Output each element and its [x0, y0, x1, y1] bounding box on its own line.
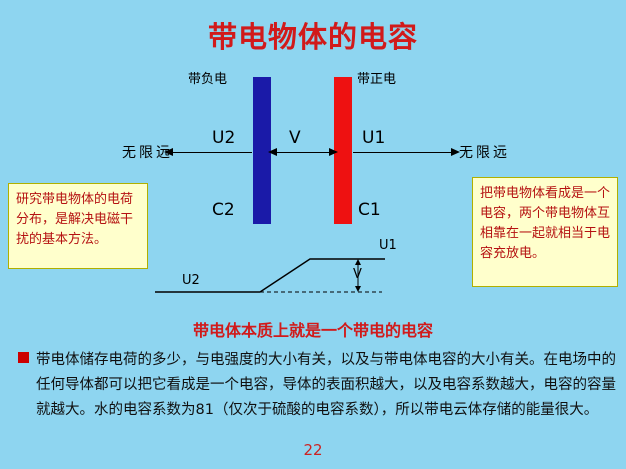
bullet-square-icon	[18, 352, 29, 363]
positive-plate-label: 带正电	[357, 68, 396, 87]
u1-label: U1	[362, 128, 385, 148]
v-label: V	[289, 128, 301, 148]
u2-label: U2	[212, 128, 235, 148]
right-infinity-label: 无限远	[459, 142, 510, 162]
graph-v-label: V	[353, 267, 362, 282]
page-title: 带电物体的电容	[0, 14, 626, 56]
body-paragraph: 带电体储存电荷的多少，与电强度的大小有关，以及与带电体电容的大小有关。在电场中的…	[36, 348, 616, 423]
left-infinity-label: 无限远	[122, 142, 173, 162]
potential-profile-graph	[150, 232, 410, 312]
left-note-box: 研究带电物体的电荷分布，是解决电磁干扰的基本方法。	[8, 183, 148, 269]
page-number: 22	[0, 441, 626, 459]
c2-label: C2	[212, 200, 235, 220]
graph-u2-label: U2	[182, 273, 200, 288]
center-caption: 带电体本质上就是一个带电的电容	[0, 317, 626, 341]
right-arrow-icon	[353, 152, 451, 153]
c1-label: C1	[358, 200, 381, 220]
slide-canvas: 带电物体的电容 带负电 带正电 无限远 无限远 U2 V U1 C2 C1 U1…	[0, 0, 626, 469]
negative-plate-label: 带负电	[188, 68, 227, 87]
right-note-box: 把带电物体看成是一个电容，两个带电物体互相靠在一起就相当于电容充放电。	[472, 177, 618, 287]
graph-u1-label: U1	[379, 238, 397, 253]
left-arrow-icon	[172, 152, 252, 153]
double-arrow-icon	[277, 152, 329, 153]
